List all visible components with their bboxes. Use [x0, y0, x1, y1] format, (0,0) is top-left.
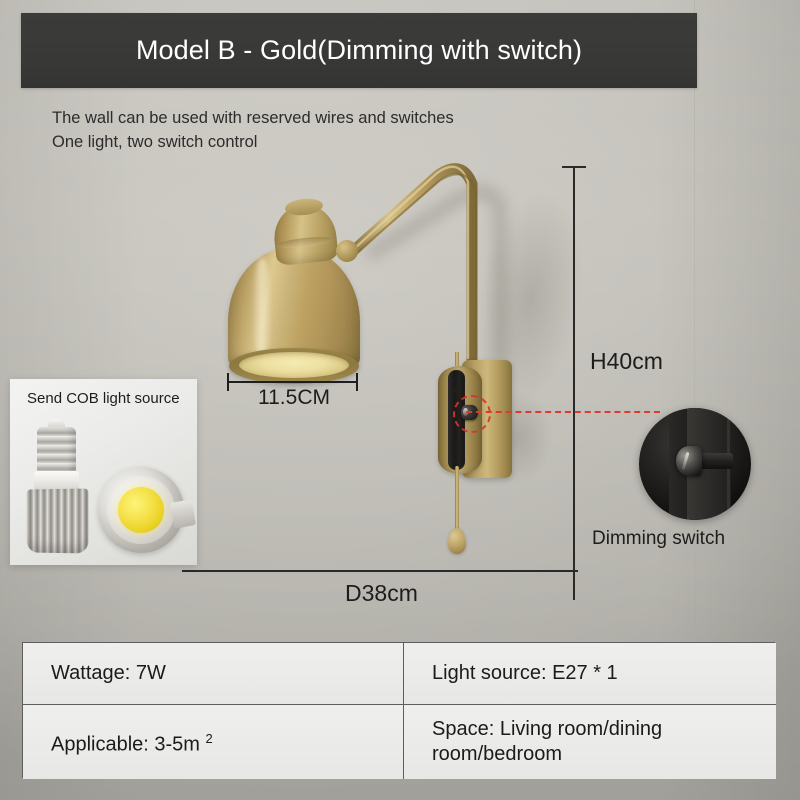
width-dimension-line [227, 381, 358, 383]
height-dimension-line [573, 167, 575, 600]
shade-highlight [252, 258, 272, 358]
infographic-page: Model B - Gold(Dimming with switch) The … [0, 0, 800, 800]
dimming-switch-caption: Dimming switch [592, 528, 725, 550]
bulb-e27-screw-base [37, 427, 76, 475]
pull-rod-finial [448, 528, 466, 554]
page-title: Model B - Gold(Dimming with switch) [136, 35, 582, 66]
spec-applicable-prefix: Applicable: 3-5m [51, 734, 206, 756]
spec-cell-light-source: Light source: E27 * 1 [404, 643, 776, 705]
cob-inset-caption: Send COB light source [27, 390, 180, 407]
switch-highlight-ring [453, 395, 491, 433]
subtitle-line-2: One light, two switch control [52, 130, 454, 154]
width-dimension-label: 11.5CM [258, 386, 330, 410]
depth-dimension-label: D38cm [345, 580, 418, 607]
lamp-arm-joint [336, 240, 358, 262]
spec-applicable-text: Applicable: 3-5m 2 [51, 726, 213, 758]
lamp-shade [228, 248, 360, 383]
shade-inner-glow [239, 352, 349, 378]
spec-space-text: Space: Living room/dining room/bedroom [432, 717, 752, 767]
pull-rod [455, 466, 459, 536]
depth-dimension-line [182, 570, 578, 572]
detail-switch-shaft [697, 453, 733, 469]
spec-wattage-text: Wattage: 7W [51, 661, 166, 686]
detail-switch-knob [676, 446, 702, 476]
specifications-table: Wattage: 7W Light source: E27 * 1 Applic… [22, 642, 775, 778]
dimming-switch-detail-circle [639, 408, 751, 520]
backplate-screw-bottom [453, 446, 459, 450]
spec-cell-applicable: Applicable: 3-5m 2 [23, 705, 404, 779]
width-dim-cap-right [356, 373, 358, 391]
shade-rim [229, 348, 359, 384]
pull-rod-top [455, 352, 459, 366]
lamp-arm-highlight [354, 167, 468, 358]
spec-cell-space: Space: Living room/dining room/bedroom [404, 705, 776, 779]
shade-body [228, 248, 360, 370]
title-banner: Model B - Gold(Dimming with switch) [21, 13, 697, 88]
bulb-heatsink-fins [27, 488, 89, 553]
height-dimension-label: H40cm [590, 348, 663, 375]
lamp-arm-shade [353, 174, 476, 358]
subtitle-block: The wall can be used with reserved wires… [52, 106, 454, 154]
lamp-arm [352, 169, 472, 360]
spec-light-source-text: Light source: E27 * 1 [432, 661, 618, 686]
cob-light-source-inset: Send COB light source [10, 379, 197, 565]
spec-applicable-superscript: 2 [206, 731, 213, 746]
cob-bulb-body [170, 499, 196, 528]
subtitle-line-1: The wall can be used with reserved wires… [52, 106, 454, 130]
switch-leader-line [466, 411, 660, 413]
arm-cast-shadow [372, 192, 500, 360]
spec-cell-wattage: Wattage: 7W [23, 643, 404, 705]
lamp-socket-cap [284, 197, 323, 217]
lamp-socket-neck [271, 202, 339, 266]
backplate-screw-top [453, 389, 459, 393]
backplate-shadow [492, 372, 582, 502]
lamp-socket-ring [276, 235, 335, 250]
